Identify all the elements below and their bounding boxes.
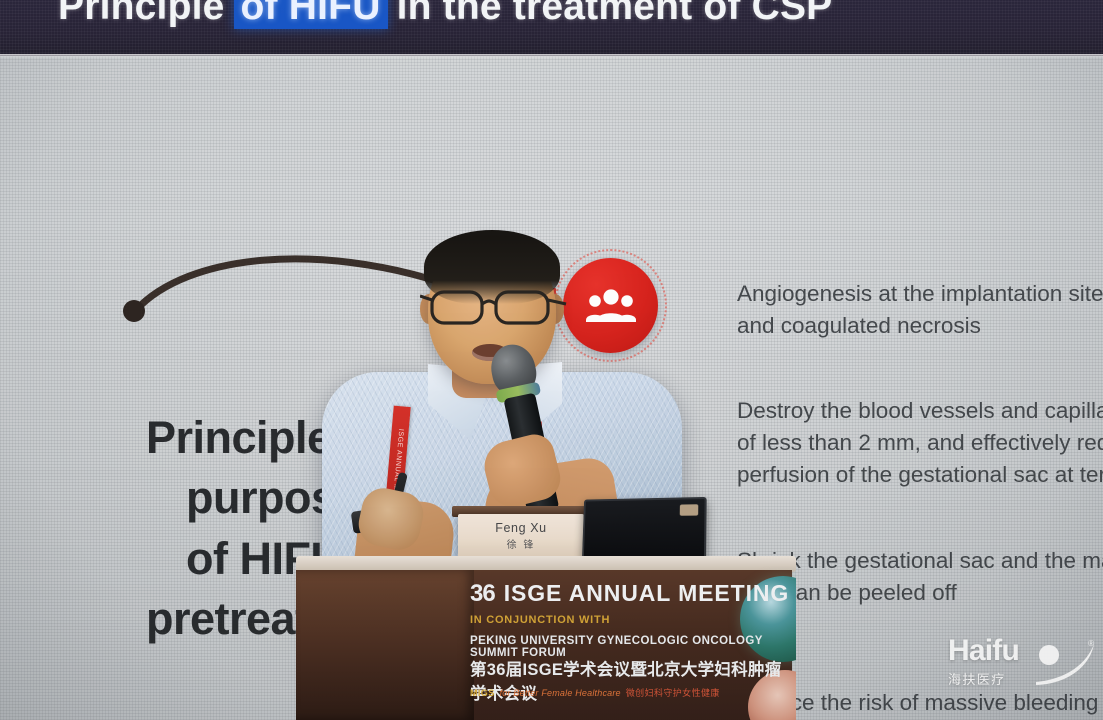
banner-meeting-title: ISGE ANNUAL MEETING xyxy=(504,580,789,607)
nameplate-name-en: Feng Xu xyxy=(495,521,546,535)
banner-title-row: 36 ISGE ANNUAL MEETING xyxy=(470,580,789,608)
slide-title-after: in the treatment of CSP xyxy=(397,0,833,29)
eyeglasses-icon xyxy=(420,284,570,328)
banner-tagline-brand: MIGS xyxy=(470,688,495,698)
slide-title-bar: Principle of HIFU in the treatment of CS… xyxy=(0,0,1103,56)
slide-bullet-2: Destroy the blood vessels and capillarie… xyxy=(737,395,1103,491)
banner-tagline-cn: 微创妇科守护女性健康 xyxy=(626,686,720,699)
banner-edition-number: 36 xyxy=(470,580,495,608)
slide-title: Principle of HIFU in the treatment of CS… xyxy=(58,0,1058,34)
banner-tagline-en: for Better Female Healthcare xyxy=(500,688,621,698)
podium: 36 ISGE ANNUAL MEETING IN CONJUNCTION WI… xyxy=(296,556,796,720)
screen-top-edge-glow xyxy=(0,54,1103,58)
bullet-2-line-1: Destroy the blood vessels and capillarie… xyxy=(737,395,1103,427)
laptop-screen xyxy=(582,497,707,562)
slide-bullet-1: Angiogenesis at the implantation site an… xyxy=(737,278,1103,342)
speaker-nameplate: Feng Xu 徐 锋 xyxy=(458,514,584,558)
bullet-2-line-3: perfusion of the gestational sac at term xyxy=(737,459,1103,491)
laptop-badge xyxy=(680,504,699,515)
bullet-2-line-2: of less than 2 mm, and effectively reduc… xyxy=(737,427,1103,459)
banner-tagline-row: MIGS for Better Female Healthcare 微创妇科守护… xyxy=(470,686,720,699)
slide-title-highlight: of HIFU xyxy=(234,0,388,29)
conference-banner: 36 ISGE ANNUAL MEETING IN CONJUNCTION WI… xyxy=(454,566,796,720)
haifu-watermark: ® Haifu 海扶医疗 xyxy=(948,636,1094,692)
registered-mark: ® xyxy=(1088,639,1094,648)
podium-left-panel xyxy=(296,570,474,720)
slide-title-before: Principle xyxy=(58,0,225,29)
bullet-1-line-2: and coagulated necrosis xyxy=(737,310,1103,342)
nameplate-name-cn: 徐 锋 xyxy=(507,536,536,551)
banner-conjunction-line: IN CONJUNCTION WITH xyxy=(470,614,610,626)
bullet-1-line-1: Angiogenesis at the implantation site xyxy=(737,278,1103,310)
screenshot-canvas: Principle purpose of HIFU pretreatment A… xyxy=(0,0,1103,720)
